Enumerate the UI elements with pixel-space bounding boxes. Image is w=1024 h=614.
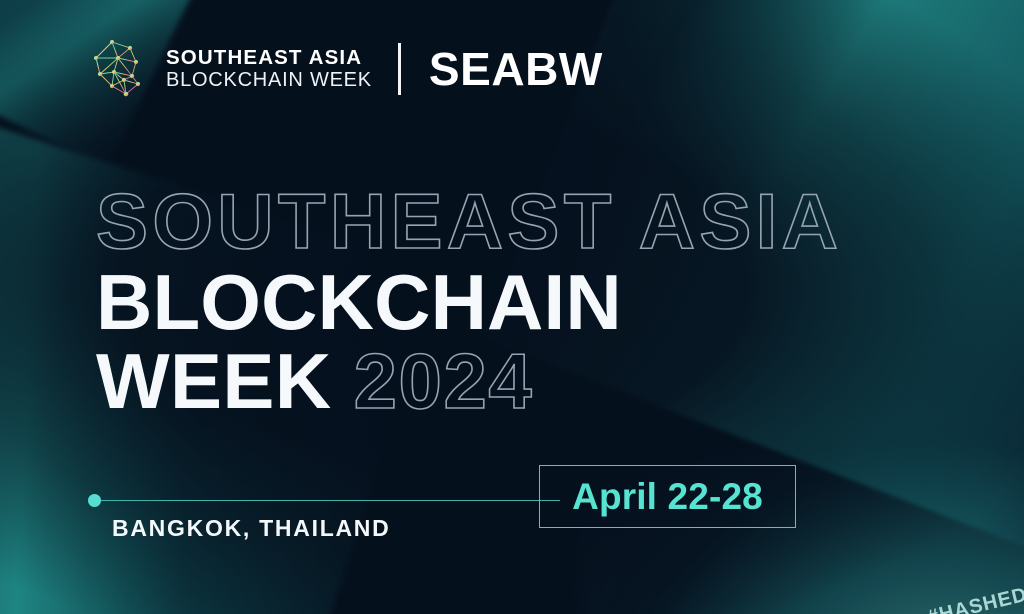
sponsor-hashed: #HASHED <box>926 584 1024 614</box>
seabw-event-poster: SOUTHEAST ASIA BLOCKCHAIN WEEK SEABW SOU… <box>0 0 1024 614</box>
event-date-badge: April 22-28 <box>539 465 796 528</box>
headline-year: 2024 <box>354 346 534 418</box>
headline-line-3: WEEK 2024 <box>96 346 842 418</box>
headline-week-word: WEEK <box>96 346 332 418</box>
lockup-divider <box>398 43 401 95</box>
logo-wordmark: SOUTHEAST ASIA BLOCKCHAIN WEEK <box>166 48 372 91</box>
connector-dot-icon <box>88 494 101 507</box>
event-location: BANGKOK, THAILAND <box>112 515 390 542</box>
logo-wordmark-line-2: BLOCKCHAIN WEEK <box>166 70 372 90</box>
logo-wordmark-line-1: SOUTHEAST ASIA <box>166 48 372 69</box>
page-title: SOUTHEAST ASIA BLOCKCHAIN WEEK 2024 <box>96 186 842 417</box>
headline-line-1: SOUTHEAST ASIA <box>96 186 842 258</box>
event-date-text: April 22-28 <box>572 476 763 518</box>
location-date-connector <box>88 494 560 507</box>
seabw-network-mesh-logo-icon <box>86 36 152 102</box>
logo-lockup: SOUTHEAST ASIA BLOCKCHAIN WEEK SEABW <box>86 36 603 102</box>
seabw-abbreviation-mark: SEABW <box>429 46 603 92</box>
connector-rule <box>101 500 560 502</box>
headline-line-2: BLOCKCHAIN <box>96 267 842 339</box>
sponsor-strip: SHARDLAB X #HASHED <box>765 584 1024 614</box>
